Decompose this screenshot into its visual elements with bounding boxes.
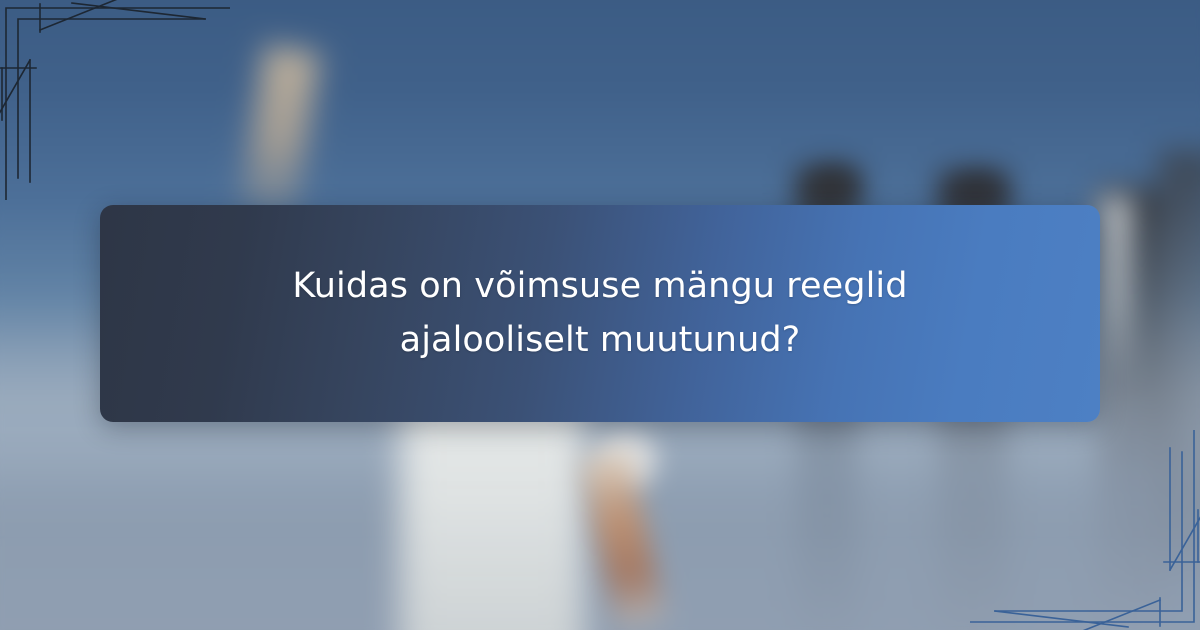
question-text: Kuidas on võimsuse mängu reeglid ajalool… [290, 260, 910, 366]
background-column-d [1158, 150, 1200, 580]
screenshot-canvas: Kuidas on võimsuse mängu reeglid ajalool… [0, 0, 1200, 630]
background-column-c-highlight [1098, 196, 1132, 376]
question-card: Kuidas on võimsuse mängu reeglid ajalool… [100, 205, 1100, 422]
